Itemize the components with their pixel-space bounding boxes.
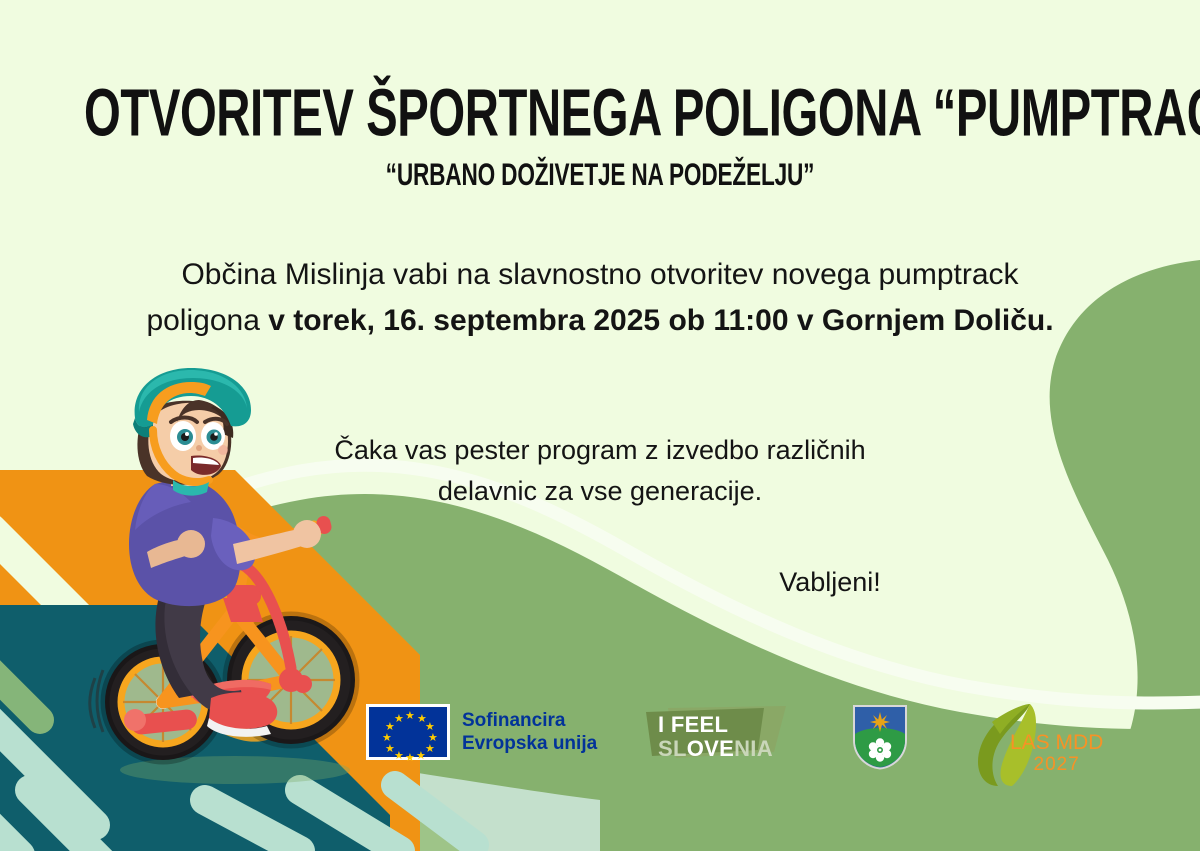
page-title: OTVORITEV ŠPORTNEGA POLIGONA “PUMPTRACK” — [84, 78, 1116, 146]
program-paragraph: Čaka vas pester program z izvedbo različ… — [300, 430, 900, 511]
mislinja-coat-of-arms — [852, 704, 908, 770]
boy-head — [133, 368, 251, 496]
eu-logo-text: Sofinancira Evropska unija — [462, 709, 597, 755]
logo-row: ★ ★ ★ ★ ★ ★ ★ ★ ★ ★ ★ ★ Sofinancira Evro… — [0, 690, 1200, 805]
page-subtitle: “URBANO DOŽIVETJE NA PODEŽELJU” — [78, 156, 1122, 193]
las-mdd-logo: LAS MDD 2027 — [968, 696, 1108, 792]
las-mdd-name: LAS MDD — [1010, 731, 1103, 754]
i-feel-slovenia-logo: I FEEL SLOVENIA — [646, 706, 786, 761]
boy-rear-leg — [155, 590, 211, 698]
eu-flag-icon: ★ ★ ★ ★ ★ ★ ★ ★ ★ ★ ★ ★ — [366, 704, 450, 760]
boy-arms — [147, 520, 321, 568]
ifs-nia: NIA — [734, 736, 773, 761]
poster-canvas: OTVORITEV ŠPORTNEGA POLIGONA “PUMPTRACK”… — [0, 0, 1200, 851]
ifs-line1: I FEEL — [658, 712, 728, 737]
closing-text: Vabljeni! — [700, 567, 960, 598]
las-mdd-year: 2027 — [1010, 755, 1103, 776]
crest-star — [870, 712, 890, 732]
ifs-sl: SL — [658, 736, 687, 761]
las-mdd-text: LAS MDD 2027 — [1010, 732, 1103, 775]
coat-of-arms-icon — [852, 704, 908, 770]
boy-eyes — [170, 418, 227, 452]
eu-logo-line2: Evropska unija — [462, 732, 597, 755]
eu-funding-logo: ★ ★ ★ ★ ★ ★ ★ ★ ★ ★ ★ ★ Sofinancira Evro… — [366, 704, 597, 760]
invitation-paragraph: Občina Mislinja vabi na slavnostno otvor… — [140, 252, 1060, 343]
invitation-text-bold: v torek, 16. septembra 2025 ob 11:00 v G… — [268, 304, 1053, 337]
eu-logo-line1: Sofinancira — [462, 709, 597, 732]
bike-helmet — [133, 368, 251, 482]
i-feel-slovenia-text: I FEEL SLOVENIA — [658, 713, 773, 761]
ifs-ove: OVE — [687, 736, 734, 761]
boy-shirt — [129, 478, 241, 606]
bike-frame — [163, 566, 291, 702]
boy-sleeve — [211, 518, 255, 570]
heading-block: OTVORITEV ŠPORTNEGA POLIGONA “PUMPTRACK”… — [0, 78, 1200, 187]
handlebar — [162, 515, 333, 548]
bike-accents — [223, 564, 312, 693]
